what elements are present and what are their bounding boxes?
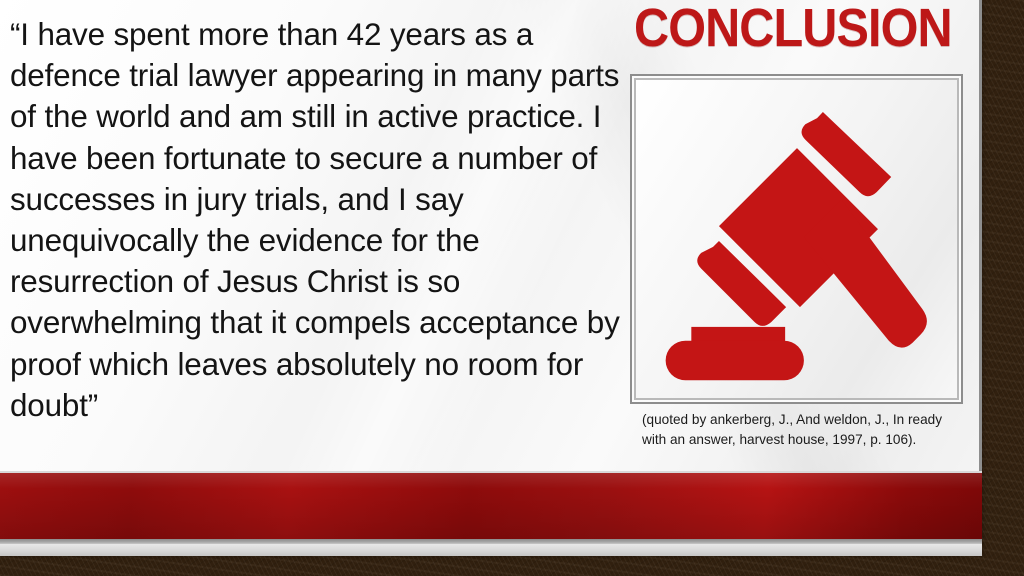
footer-strip (0, 544, 982, 556)
picture-inner (636, 80, 957, 398)
gavel-icon (636, 80, 957, 398)
citation-text: (quoted by ankerberg, J., And weldon, J.… (642, 410, 962, 450)
quote-text: “I have spent more than 42 years as a de… (10, 14, 620, 426)
picture-frame (630, 74, 963, 404)
page-title: CONCLUSION (634, 0, 940, 60)
footer-red-band (0, 471, 982, 539)
slide-root: “I have spent more than 42 years as a de… (0, 0, 1024, 576)
footer-band-shade (0, 473, 982, 539)
